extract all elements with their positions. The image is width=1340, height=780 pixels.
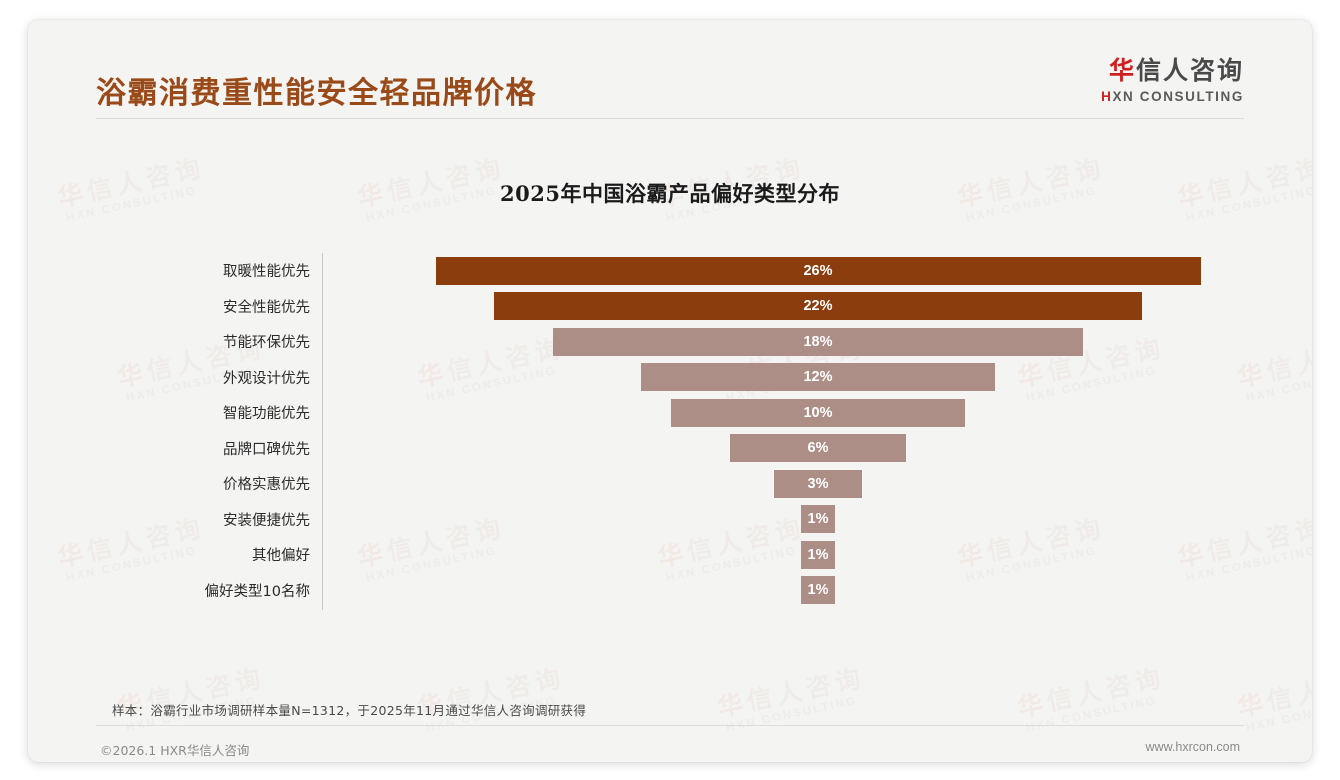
- funnel-row: 取暖性能优先26%: [28, 253, 1312, 289]
- website-url: www.hxrcon.com: [1146, 740, 1240, 754]
- funnel-row: 节能环保优先18%: [28, 324, 1312, 360]
- logo-chinese-rest: 信人咨询: [1136, 56, 1244, 85]
- bar-value-label: 1%: [808, 582, 829, 598]
- chart-footnote: 样本：浴霸行业市场调研样本量N=1312，于2025年11月通过华信人咨询调研获…: [112, 700, 586, 719]
- title-divider: [96, 118, 1244, 119]
- funnel-row: 价格实惠优先3%: [28, 466, 1312, 502]
- funnel-row: 安装便捷优先1%: [28, 502, 1312, 538]
- category-label: 安全性能优先: [28, 296, 310, 317]
- funnel-row: 其他偏好1%: [28, 537, 1312, 573]
- bar-track: 3%: [323, 466, 1312, 502]
- category-label: 智能功能优先: [28, 402, 310, 423]
- watermark-logo: 华信人咨询HXN CONSULTING: [1235, 665, 1312, 736]
- bar-track: 26%: [323, 253, 1312, 289]
- funnel-bar[interactable]: 6%: [730, 434, 907, 462]
- bar-track: 1%: [323, 502, 1312, 538]
- logo-chinese-text: 华信人咨询: [1101, 58, 1244, 83]
- bar-track: 1%: [323, 537, 1312, 573]
- brand-logo: 华信人咨询 HXN CONSULTING: [1101, 58, 1244, 104]
- bar-value-label: 10%: [803, 405, 832, 421]
- page-title: 浴霸消费重性能安全轻品牌价格: [96, 68, 537, 112]
- funnel-bar[interactable]: 1%: [801, 505, 835, 533]
- funnel-bar[interactable]: 22%: [494, 292, 1141, 320]
- bar-value-label: 6%: [808, 440, 829, 456]
- category-label: 其他偏好: [28, 544, 310, 565]
- bar-value-label: 18%: [803, 334, 832, 350]
- bar-value-label: 22%: [803, 298, 832, 314]
- funnel-row: 安全性能优先22%: [28, 289, 1312, 325]
- category-label: 品牌口碑优先: [28, 438, 310, 459]
- category-label: 价格实惠优先: [28, 473, 310, 494]
- bar-track: 10%: [323, 395, 1312, 431]
- copyright-text: ©2026.1 HXR华信人咨询: [100, 740, 249, 759]
- funnel-row: 品牌口碑优先6%: [28, 431, 1312, 467]
- funnel-row: 偏好类型10名称1%: [28, 573, 1312, 609]
- logo-english-rest: XN CONSULTING: [1112, 89, 1244, 104]
- category-label: 节能环保优先: [28, 331, 310, 352]
- slide-header: 浴霸消费重性能安全轻品牌价格 华信人咨询 HXN CONSULTING: [28, 20, 1312, 118]
- logo-english-text: HXN CONSULTING: [1101, 90, 1244, 104]
- funnel-bar[interactable]: 26%: [436, 257, 1201, 285]
- bar-track: 22%: [323, 289, 1312, 325]
- chart-container: 2025年中国浴霸产品偏好类型分布 取暖性能优先26%安全性能优先22%节能环保…: [28, 130, 1312, 660]
- logo-letter-h: H: [1101, 89, 1112, 104]
- funnel-bar[interactable]: 10%: [671, 399, 965, 427]
- funnel-row: 外观设计优先12%: [28, 360, 1312, 396]
- bar-value-label: 3%: [808, 476, 829, 492]
- funnel-bar[interactable]: 12%: [641, 363, 994, 391]
- category-label: 安装便捷优先: [28, 509, 310, 530]
- bar-value-label: 1%: [808, 511, 829, 527]
- funnel-bar[interactable]: 1%: [801, 541, 835, 569]
- bar-value-label: 1%: [808, 547, 829, 563]
- chart-title: 2025年中国浴霸产品偏好类型分布: [28, 178, 1312, 208]
- slide-footer: ©2026.1 HXR华信人咨询 www.hxrcon.com: [28, 726, 1312, 762]
- funnel-bar[interactable]: 3%: [774, 470, 862, 498]
- funnel-bar[interactable]: 1%: [801, 576, 835, 604]
- bar-value-label: 26%: [803, 263, 832, 279]
- slide-canvas: 华信人咨询HXN CONSULTING华信人咨询HXN CONSULTING华信…: [28, 20, 1312, 762]
- category-label: 外观设计优先: [28, 367, 310, 388]
- funnel-row: 智能功能优先10%: [28, 395, 1312, 431]
- bar-track: 6%: [323, 431, 1312, 467]
- bar-track: 18%: [323, 324, 1312, 360]
- bar-track: 1%: [323, 573, 1312, 609]
- category-label: 取暖性能优先: [28, 260, 310, 281]
- category-label: 偏好类型10名称: [28, 580, 310, 601]
- logo-char-hua: 华: [1109, 56, 1136, 85]
- bar-track: 12%: [323, 360, 1312, 396]
- funnel-bar[interactable]: 18%: [553, 328, 1083, 356]
- bar-value-label: 12%: [803, 369, 832, 385]
- funnel-chart-plot: 取暖性能优先26%安全性能优先22%节能环保优先18%外观设计优先12%智能功能…: [28, 253, 1312, 613]
